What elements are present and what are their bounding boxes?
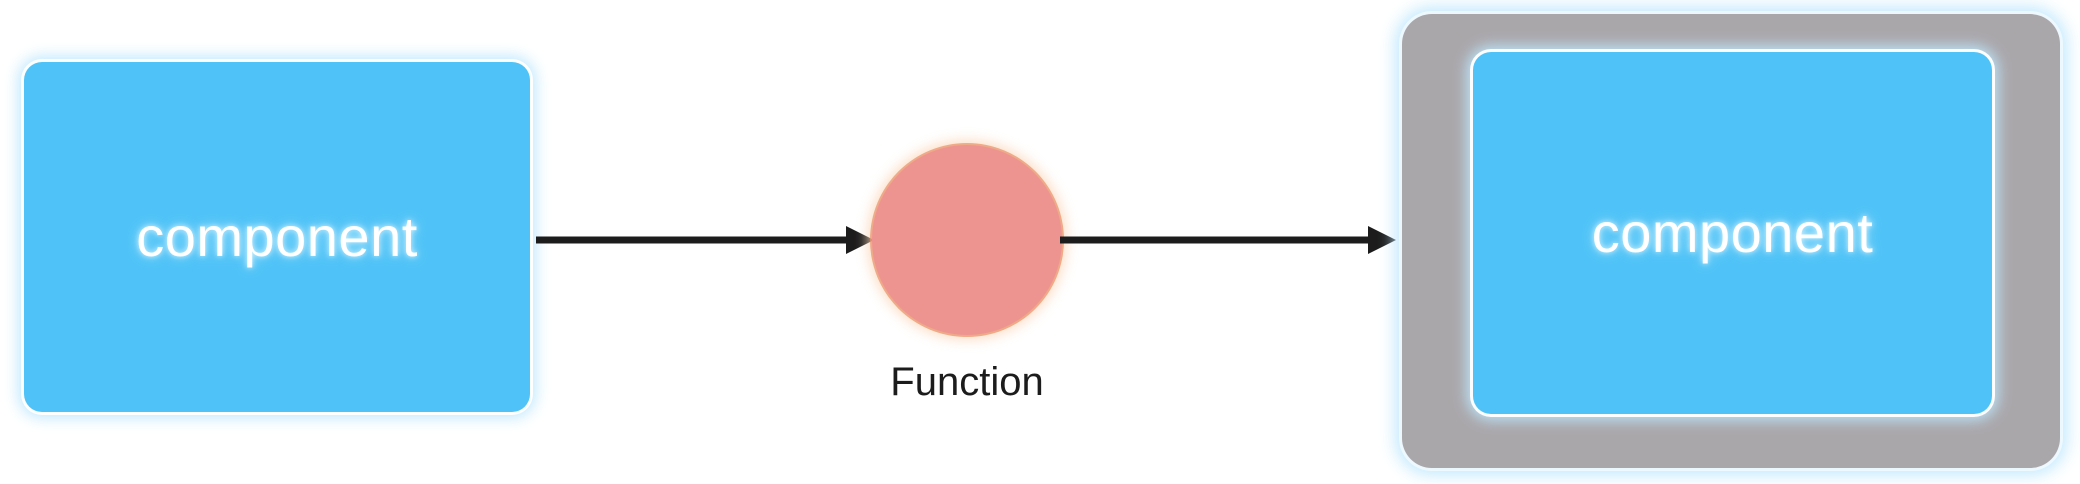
node-component-right[interactable]: component	[1473, 52, 1992, 414]
node-component-left-label: component	[136, 209, 418, 265]
arrow-line-icon	[536, 220, 874, 260]
node-component-left[interactable]: component	[24, 62, 530, 412]
edge-component-left-to-function	[536, 220, 874, 260]
node-function-label: Function	[872, 362, 1062, 402]
node-component-right-label: component	[1592, 205, 1874, 261]
node-function-circle[interactable]	[872, 145, 1062, 335]
arrow-line-icon	[1060, 220, 1396, 260]
edge-function-to-component-right	[1060, 220, 1396, 260]
diagram-canvas: component Function component	[0, 0, 2080, 484]
